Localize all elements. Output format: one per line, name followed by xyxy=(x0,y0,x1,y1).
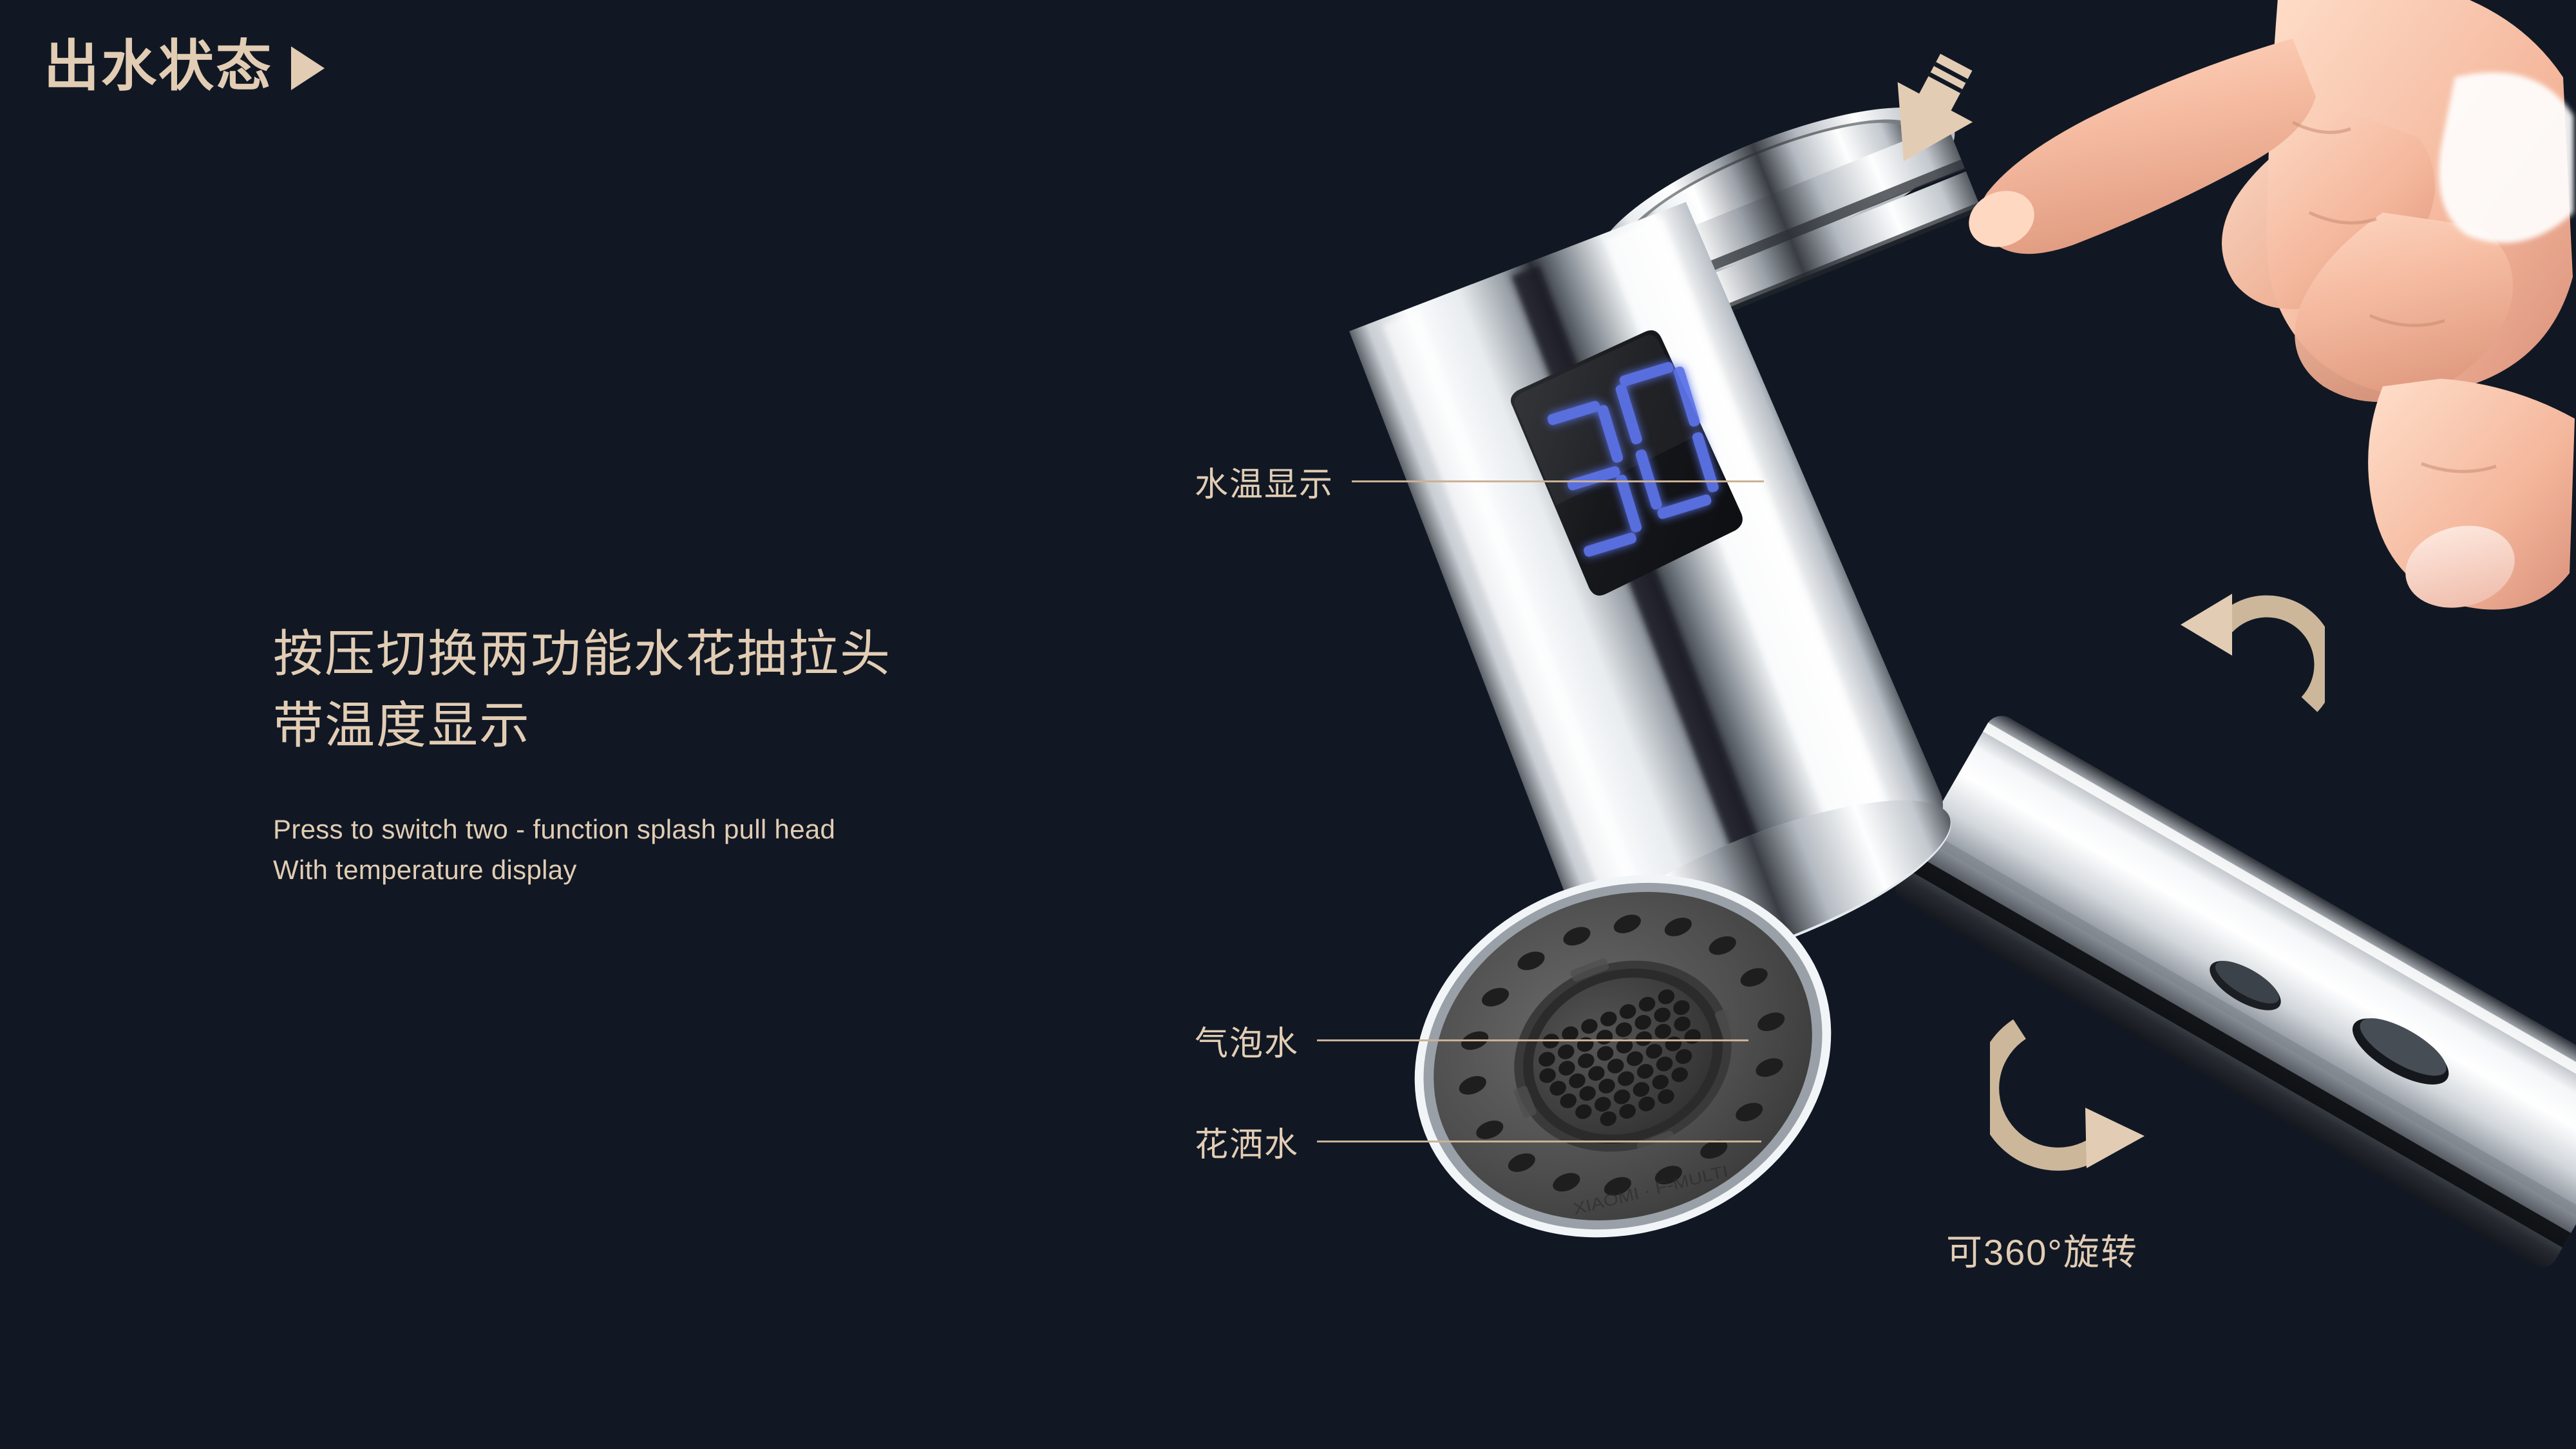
press-down-arrow-icon xyxy=(1871,53,1987,175)
leader-line xyxy=(1352,480,1764,482)
callout-shower-water: 花洒水 xyxy=(1195,1117,1761,1166)
rotate-clockwise-arrow-icon xyxy=(1990,1010,2157,1177)
rotation-label: 可360°旋转 xyxy=(1946,1224,2138,1276)
page-title: 出水状态 xyxy=(44,39,273,94)
callout-label: 水温显示 xyxy=(1195,457,1334,506)
subtext-en-line1: Press to switch two - function splash pu… xyxy=(273,809,891,850)
slide-header: 出水状态 xyxy=(44,39,325,94)
headline-cn-line2: 带温度显示 xyxy=(273,690,891,761)
subtext-en-line2: With temperature display xyxy=(273,849,891,891)
play-triangle-icon xyxy=(291,46,325,90)
leader-line xyxy=(1317,1141,1761,1142)
faucet-arm xyxy=(1889,710,2576,1274)
callout-temperature-display: 水温显示 xyxy=(1195,457,1764,506)
slide-canvas: XIAOMI · F-MULTI xyxy=(0,0,2576,1449)
callout-label: 气泡水 xyxy=(1195,1016,1299,1065)
pointing-hand xyxy=(1960,0,2575,619)
leader-line xyxy=(1317,1039,1748,1041)
feature-copy-block: 按压切换两功能水花抽拉头 带温度显示 Press to switch two -… xyxy=(273,618,891,891)
rotate-counterclockwise-arrow-icon xyxy=(2177,587,2325,735)
callout-label: 花洒水 xyxy=(1195,1117,1299,1166)
headline-cn-line1: 按压切换两功能水花抽拉头 xyxy=(273,618,891,690)
callout-bubble-water: 气泡水 xyxy=(1195,1016,1748,1065)
